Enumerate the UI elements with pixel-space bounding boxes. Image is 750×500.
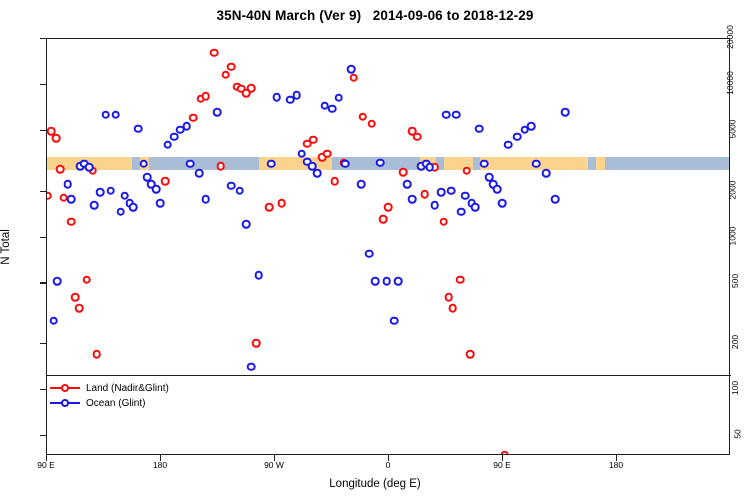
chart-title: 35N-40N March (Ver 9) 2014-09-06 to 2018… xyxy=(0,8,750,23)
x-axis-tick-mark xyxy=(502,455,503,461)
x-axis-tick-label: 90 E xyxy=(37,460,55,470)
x-axis-tick-label: 180 xyxy=(153,460,167,470)
legend-entry-label: Land (Nadir&Glint) xyxy=(86,383,169,394)
figure-canvas: 35N-40N March (Ver 9) 2014-09-06 to 2018… xyxy=(0,0,750,500)
x-axis-tick-mark xyxy=(160,455,161,461)
x-axis-tick-mark xyxy=(46,455,47,461)
x-axis-label: Longitude (deg E) xyxy=(0,478,750,490)
x-axis-tick-label: 0 xyxy=(386,460,391,470)
x-axis-tick-label: 90 E xyxy=(493,460,511,470)
x-axis-tick-mark xyxy=(388,455,389,461)
chart-legend: Land (Nadir&Glint)Ocean (Glint) xyxy=(47,375,731,418)
legend-entry-label: Ocean (Glint) xyxy=(86,398,145,409)
legend-marker-icon xyxy=(50,383,80,393)
legend-entry[interactable]: Ocean (Glint) xyxy=(50,395,145,411)
legend-entry[interactable]: Land (Nadir&Glint) xyxy=(50,380,169,396)
x-axis-tick-label: 180 xyxy=(609,460,623,470)
legend-marker-icon xyxy=(50,398,80,408)
x-axis-tick-label: 90 W xyxy=(264,460,284,470)
x-axis-tick-mark xyxy=(274,455,275,461)
y-axis-label: N Total xyxy=(0,229,12,265)
x-axis-tick-mark xyxy=(616,455,617,461)
